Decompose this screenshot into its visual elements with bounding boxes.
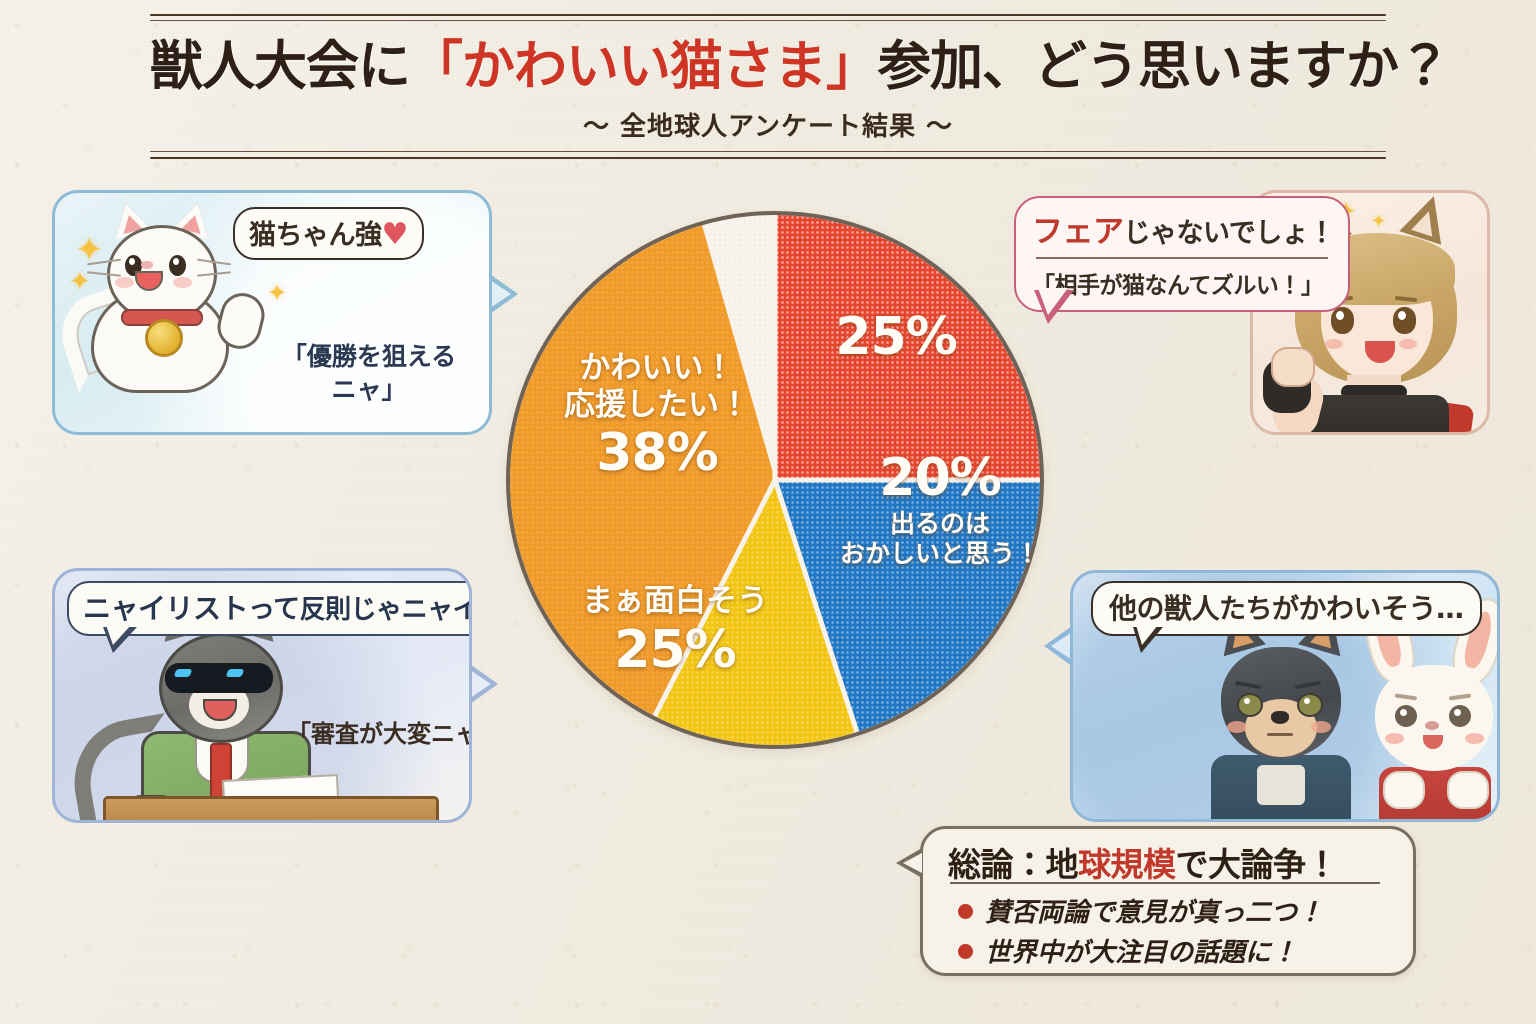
pie-label-orange: かわいい！ 応援したい！ 38% <box>522 350 792 485</box>
header-rule-top <box>150 14 1386 23</box>
sunglasses-icon <box>165 663 273 693</box>
summary-tail-inner <box>903 853 922 873</box>
wolf-eye-left <box>1237 693 1263 717</box>
bunny-eye-right <box>1449 705 1471 727</box>
wolf-nose <box>1271 711 1289 724</box>
pie-value-blue: 20% <box>820 448 1060 509</box>
heart-icon: ♥ <box>382 217 408 252</box>
fox-girl-cheek-left <box>1325 339 1343 349</box>
balloon-top-right-tail-inner <box>1038 288 1068 315</box>
pie-value-orange: 38% <box>522 423 792 484</box>
fox-girl-top <box>1309 395 1449 435</box>
balloon-top-right-rest: じゃないでしょ！ <box>1124 218 1335 249</box>
header-rule-bottom <box>150 151 1386 160</box>
card-bottom-right-tail-inner <box>1051 632 1072 660</box>
bunny-paw-right <box>1447 771 1489 809</box>
quote-top-left-line1: 「優勝を狙える <box>282 342 456 371</box>
balloon-bottom-left-accent: ニャイリスト <box>83 592 248 625</box>
wolf-shirt <box>1257 765 1305 805</box>
fox-girl-eye-right <box>1393 307 1416 334</box>
quote-bottom-left: 「審査が大変ニャ〜」 <box>287 719 472 750</box>
bunny-nose <box>1425 721 1439 730</box>
balloon-bottom-left-tail-fill <box>106 625 131 645</box>
pie-text-orange-1: かわいい！ <box>522 350 792 387</box>
card-bottom-right-inner: 他の獣人たちがかわいそう… <box>1070 570 1500 822</box>
pie-value-yellow: 25% <box>545 620 805 681</box>
card-top-left: ✦ ✦ ✦ 猫ちゃん強♥ 「優勝を狙える ニャ」 <box>52 190 492 435</box>
sparkle-icon-2: ✦ <box>69 269 91 295</box>
bunny-cheek-left <box>1385 733 1404 744</box>
fox-girl-cheek-right <box>1399 339 1417 349</box>
balloon-bottom-right-mid: たちが <box>1219 594 1299 625</box>
fox-girl-eye-left <box>1331 307 1354 334</box>
bullet-dot-icon-0 <box>958 904 973 919</box>
pie-text-yellow-1: まぁ面白そう <box>545 583 805 620</box>
card-bottom-left-inner: ニャイリストって反則じゃニャイ? 「審査が大変ニャ〜」 <box>52 568 472 823</box>
balloon-top-left-text: 猫ちゃん強 <box>249 220 382 251</box>
sparkle-icon-1: ✦ <box>75 233 104 267</box>
bullet-dot-icon-1 <box>958 944 973 959</box>
pie-text-orange-2: 応援したい！ <box>522 387 792 424</box>
wolf-eye-right <box>1297 693 1323 717</box>
quote-top-left-line2: ニャ」 <box>331 375 406 404</box>
summary-box: 総論：地球規模で大論争！ 賛否両論で意見が真っ二つ！ 世界中が大注目の話題に！ <box>920 826 1416 976</box>
bunny-head <box>1375 665 1493 771</box>
pie-label-yellow: まぁ面白そう 25% <box>545 583 805 681</box>
balloon-bottom-left-mid: って <box>248 594 300 625</box>
balloon-top-right-headline: フェアじゃないでしょ！ <box>1032 206 1332 251</box>
card-top-left-tail-inner <box>490 280 511 308</box>
sparkle-icon-3: ✦ <box>267 281 287 305</box>
summary-bullet-0: 賛否両論で意見が真っ二つ！ <box>958 892 1323 929</box>
page-subtitle: 〜 全地球人アンケート結果 〜 <box>150 106 1386 143</box>
white-cat-cheek-left <box>115 277 134 288</box>
white-cat-nose <box>141 261 153 269</box>
title-suffix: 参加、どう思いますか？ <box>878 36 1450 97</box>
balloon-bottom-left-rest: 反則じゃニャイ? <box>300 595 472 625</box>
white-cat-cheek-right <box>173 277 192 288</box>
summary-bullet-1-text: 世界中が大注目の話題に！ <box>985 938 1297 968</box>
white-cat-medal <box>145 319 183 357</box>
wolf-cheek-right <box>1311 721 1331 733</box>
quote-top-right: 「相手が猫なんてズルい！」 <box>1032 266 1332 300</box>
card-bottom-right: 他の獣人たちがかわいそう… <box>1070 570 1500 822</box>
judge-desk <box>103 796 439 823</box>
pie-label-blue: 20% 出るのは おかしいと思う！ <box>820 448 1060 568</box>
title-quote-open: 「 <box>410 36 462 97</box>
summary-heading: 総論：地球規模で大論争！ <box>948 838 1338 886</box>
summary-bullet-1: 世界中が大注目の話題に！ <box>958 932 1297 969</box>
balloon-top-right: フェアじゃないでしょ！ 「相手が猫なんてズルい！」 <box>1014 196 1350 312</box>
bunny-eye-left <box>1395 705 1417 727</box>
balloon-bottom-right-pre: 他の獣人 <box>1109 592 1219 625</box>
wolf-cheek-left <box>1227 721 1247 733</box>
card-bottom-left-tail-inner <box>470 670 491 698</box>
fox-girl-fist <box>1271 347 1315 387</box>
balloon-bottom-right-tail-fill <box>1136 625 1158 645</box>
summary-heading-post: で大論争！ <box>1176 845 1339 884</box>
title-accent: かわいい猫さま <box>462 36 826 97</box>
pie-text-blue-1: 出るのは <box>820 509 1060 539</box>
page-title: 獣人大会に「かわいい猫さま」参加、どう思いますか？ <box>150 37 1386 98</box>
summary-divider <box>950 882 1380 884</box>
bunny-paw-left <box>1383 771 1425 809</box>
sparkle-icon-5: ✦ <box>1371 213 1386 231</box>
summary-bullet-0-text: 賛否両論で意見が真っ二つ！ <box>985 898 1323 928</box>
balloon-top-right-accent: フェア <box>1032 214 1124 250</box>
quote-top-left: 「優勝を狙える ニャ」 <box>271 341 467 406</box>
card-bottom-left: ニャイリストって反則じゃニャイ? 「審査が大変ニャ〜」 <box>52 568 472 823</box>
balloon-top-left: 猫ちゃん強♥ <box>233 207 424 260</box>
card-top-left-inner: ✦ ✦ ✦ 猫ちゃん強♥ 「優勝を狙える ニャ」 <box>52 190 492 435</box>
white-cat-eye-right <box>169 255 186 276</box>
pie-label-red: 25% <box>806 307 986 368</box>
header: 獣人大会に「かわいい猫さま」参加、どう思いますか？ 〜 全地球人アンケート結果 … <box>150 14 1386 160</box>
summary-heading-pre: 総論：地 <box>948 845 1078 884</box>
title-prefix: 獣人大会に <box>150 36 410 97</box>
wolf-mouth <box>1267 733 1293 736</box>
bunny-cheek-right <box>1465 733 1484 744</box>
pie-value-red: 25% <box>806 307 986 368</box>
pie-text-blue-2: おかしいと思う！ <box>820 539 1060 569</box>
summary-heading-accent: 球規模 <box>1078 845 1176 884</box>
balloon-top-right-divider <box>1036 257 1328 259</box>
pie-chart: 25% 20% 出るのは おかしいと思う！ かわいい！ 応援したい！ 38% ま… <box>510 215 1040 745</box>
title-quote-close: 」 <box>826 36 878 97</box>
balloon-bottom-right-post: かわいそう… <box>1299 592 1464 625</box>
